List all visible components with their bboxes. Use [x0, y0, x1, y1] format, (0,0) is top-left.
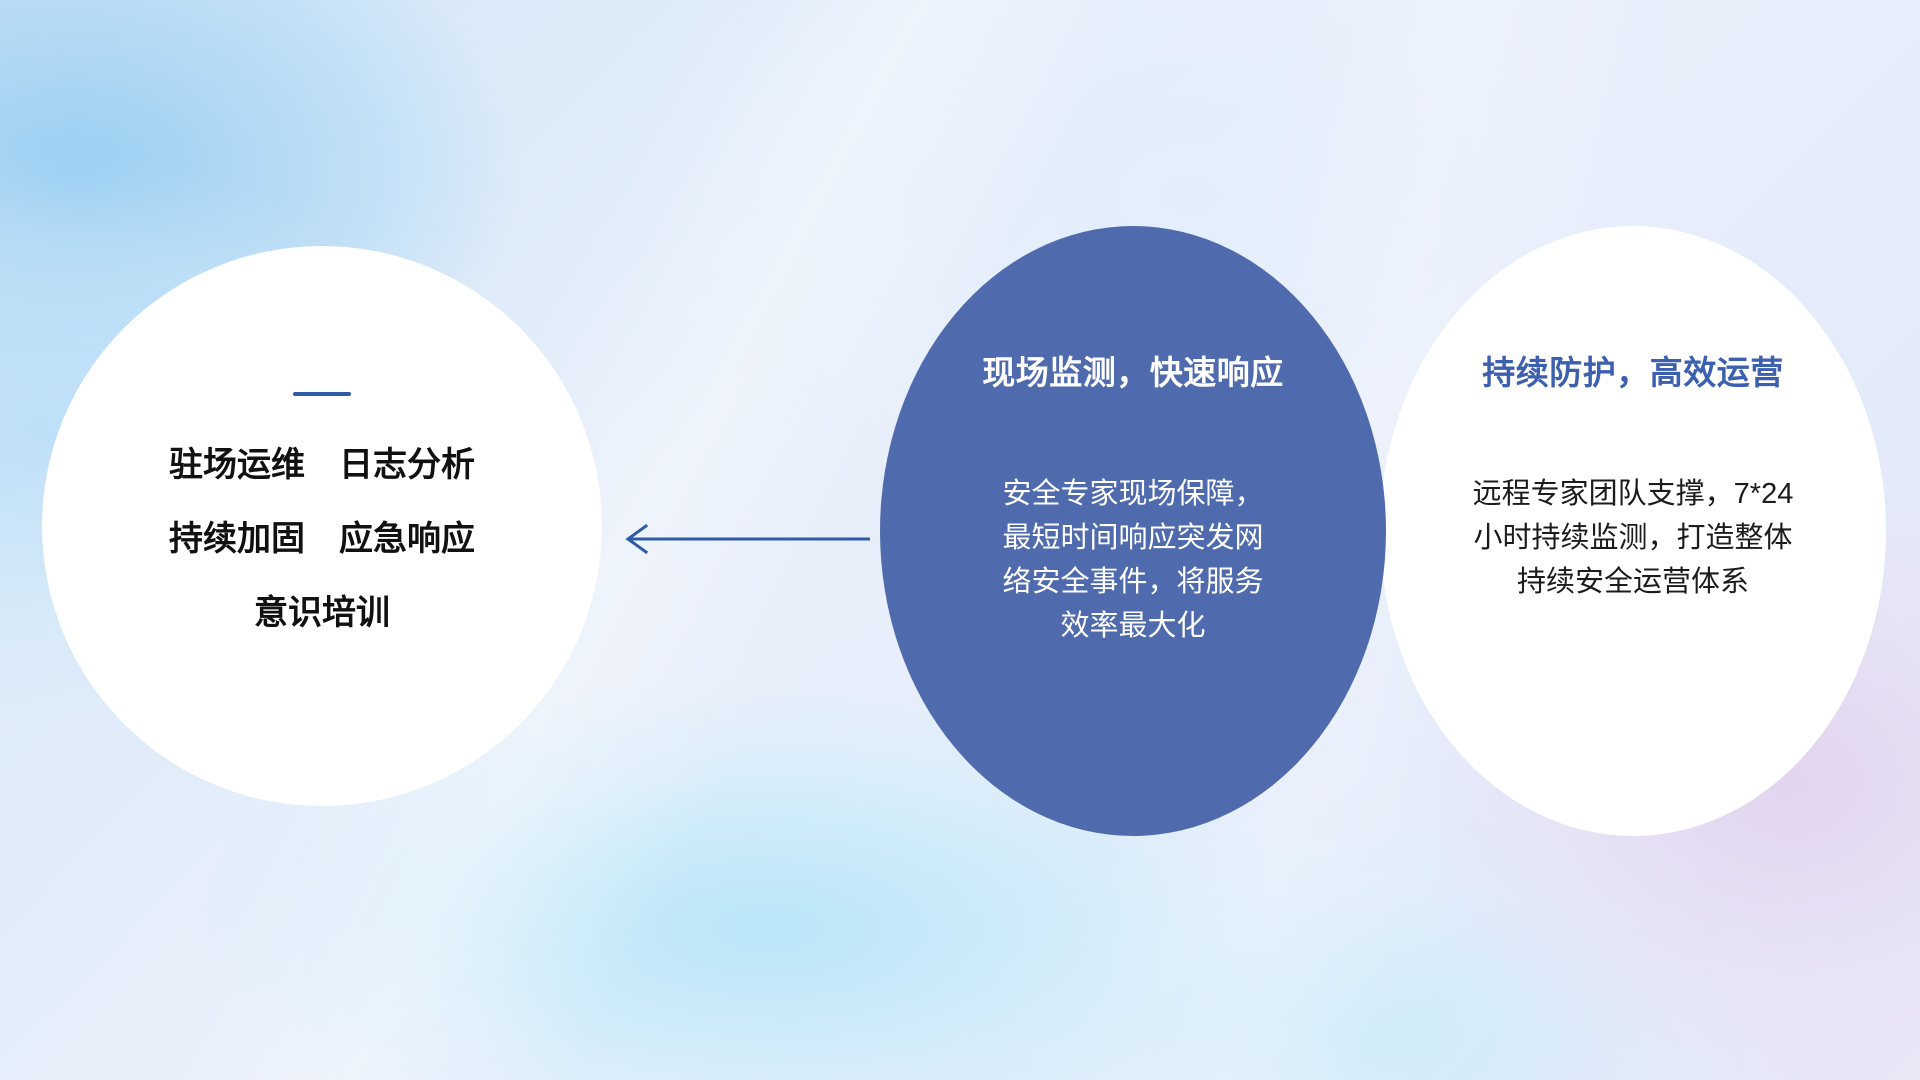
slide-canvas: 驻场运维 日志分析 持续加固 应急响应 意识培训 持续防护，高效运营 远程专家团… [0, 0, 1920, 1080]
capability-line-2: 持续加固 应急响应 [169, 522, 475, 556]
capability-circle-left[interactable]: 驻场运维 日志分析 持续加固 应急响应 意识培训 [42, 246, 602, 806]
divider-rule [293, 392, 351, 396]
service-title-right: 持续防护，高效运营 [1482, 346, 1784, 394]
flow-arrow-left [612, 522, 872, 556]
arrow-left-icon [612, 522, 872, 556]
capability-line-1: 驻场运维 日志分析 [169, 448, 475, 482]
service-body-right-line-3: 持续安全运营体系 [1443, 560, 1823, 604]
service-body-right-line-1: 远程专家团队支撑，7*24 [1443, 472, 1823, 516]
service-title-middle: 现场监测，快速响应 [982, 346, 1284, 394]
service-body-middle-line-2: 最短时间响应突发网 [968, 516, 1298, 560]
service-body-middle-line-4: 效率最大化 [968, 604, 1298, 648]
service-body-middle-line-1: 安全专家现场保障， [968, 472, 1298, 516]
service-circle-middle[interactable]: 现场监测，快速响应 安全专家现场保障， 最短时间响应突发网 络安全事件，将服务 … [880, 226, 1386, 836]
service-body-right: 远程专家团队支撑，7*24 小时持续监测，打造整体 持续安全运营体系 [1443, 472, 1823, 604]
service-body-middle: 安全专家现场保障， 最短时间响应突发网 络安全事件，将服务 效率最大化 [968, 472, 1298, 648]
capability-list: 驻场运维 日志分析 持续加固 应急响应 意识培训 [169, 448, 475, 630]
service-body-middle-line-3: 络安全事件，将服务 [968, 560, 1298, 604]
service-body-right-line-2: 小时持续监测，打造整体 [1443, 516, 1823, 560]
capability-line-3: 意识培训 [169, 596, 475, 630]
service-circle-right[interactable]: 持续防护，高效运营 远程专家团队支撑，7*24 小时持续监测，打造整体 持续安全… [1380, 226, 1886, 836]
